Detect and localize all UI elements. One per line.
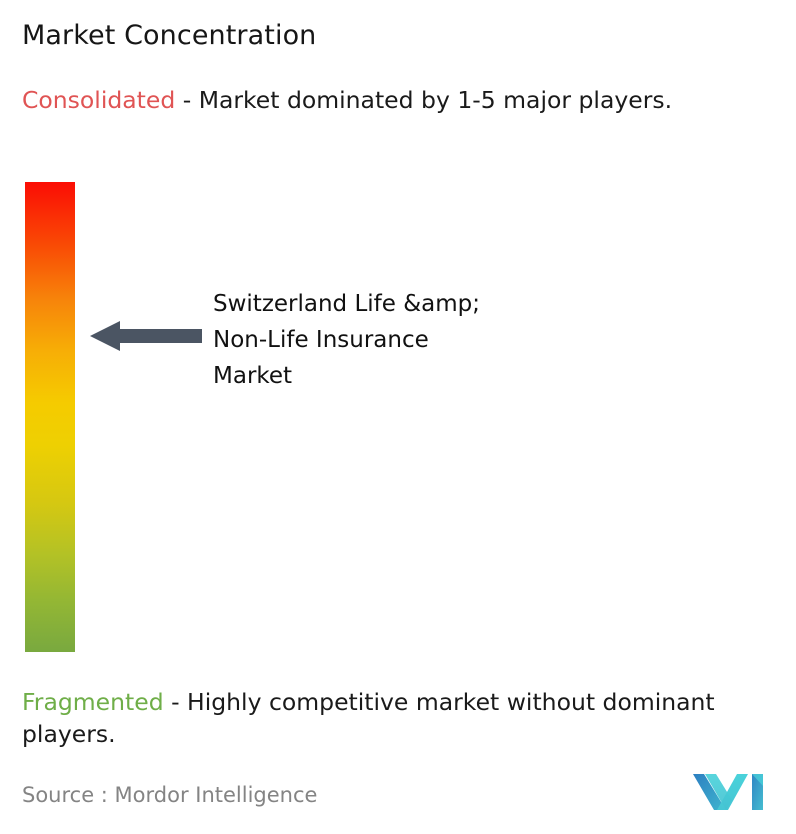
mordor-intelligence-logo [693, 766, 771, 814]
concentration-gradient-bar [25, 182, 75, 652]
marker-arrow [90, 318, 202, 354]
marker-label-line-2: Non-Life Insurance [213, 322, 613, 358]
marker-label: Switzerland Life &amp; Non-Life Insuranc… [213, 286, 613, 394]
left-arrow-icon [90, 318, 202, 354]
legend-fragmented: Fragmented - Highly competitive market w… [22, 686, 792, 750]
marker-label-line-1: Switzerland Life &amp; [213, 286, 613, 322]
legend-fragmented-keyword: Fragmented [22, 688, 164, 716]
source-label: Source : Mordor Intelligence [22, 783, 317, 807]
page-title: Market Concentration [22, 20, 316, 52]
mi-monogram-icon [693, 766, 771, 814]
marker-label-line-3: Market [213, 358, 613, 394]
legend-consolidated: Consolidated - Market dominated by 1-5 m… [22, 84, 767, 116]
legend-consolidated-keyword: Consolidated [22, 86, 175, 114]
legend-consolidated-description: - Market dominated by 1-5 major players. [175, 86, 672, 114]
